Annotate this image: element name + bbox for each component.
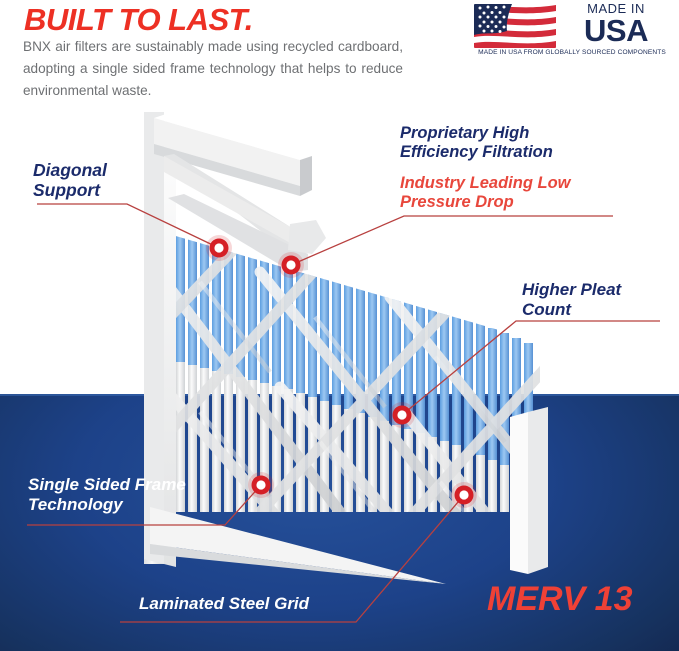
callout-single-sided-frame: Single Sided Frame Technology — [28, 475, 186, 515]
infographic-canvas: BUILT TO LAST. BNX air filters are susta… — [0, 0, 679, 651]
merv-rating-badge: MERV 13 — [487, 580, 633, 619]
badge-usa-label: USA — [562, 16, 670, 45]
usa-flag-icon — [474, 4, 556, 48]
callout-diagonal-support: Diagonal Support — [33, 160, 107, 201]
callout-proprietary-filtration-line2: Efficiency Filtration — [400, 143, 553, 162]
callout-diagonal-support-line2: Support — [33, 180, 107, 200]
badge-text: MADE IN USA — [562, 2, 670, 45]
callout-laminated-steel-grid: Laminated Steel Grid — [139, 594, 309, 614]
callout-proprietary-filtration-line1: Proprietary High — [400, 124, 553, 143]
callout-low-pressure-drop: Industry Leading Low Pressure Drop — [400, 174, 571, 213]
callout-proprietary-filtration: Proprietary High Efficiency Filtration — [400, 124, 553, 163]
made-in-usa-badge: MADE IN USA MADE IN USA FROM GLOBALLY SO… — [474, 2, 670, 60]
callout-higher-pleat-count-line2: Count — [522, 300, 621, 320]
callout-higher-pleat-count: Higher Pleat Count — [522, 280, 621, 320]
header-description: BNX air filters are sustainably made usi… — [23, 36, 403, 102]
callout-higher-pleat-count-line1: Higher Pleat — [522, 280, 621, 300]
callout-low-pressure-drop-line2: Pressure Drop — [400, 193, 571, 212]
callout-diagonal-support-line1: Diagonal — [33, 160, 107, 180]
callout-low-pressure-drop-line1: Industry Leading Low — [400, 174, 571, 193]
callout-single-sided-frame-line1: Single Sided Frame — [28, 475, 186, 495]
callout-single-sided-frame-line2: Technology — [28, 495, 186, 515]
page-title: BUILT TO LAST. — [24, 2, 253, 38]
badge-fine-print: MADE IN USA FROM GLOBALLY SOURCED COMPON… — [474, 49, 670, 56]
callout-laminated-steel-grid-line1: Laminated Steel Grid — [139, 594, 309, 614]
